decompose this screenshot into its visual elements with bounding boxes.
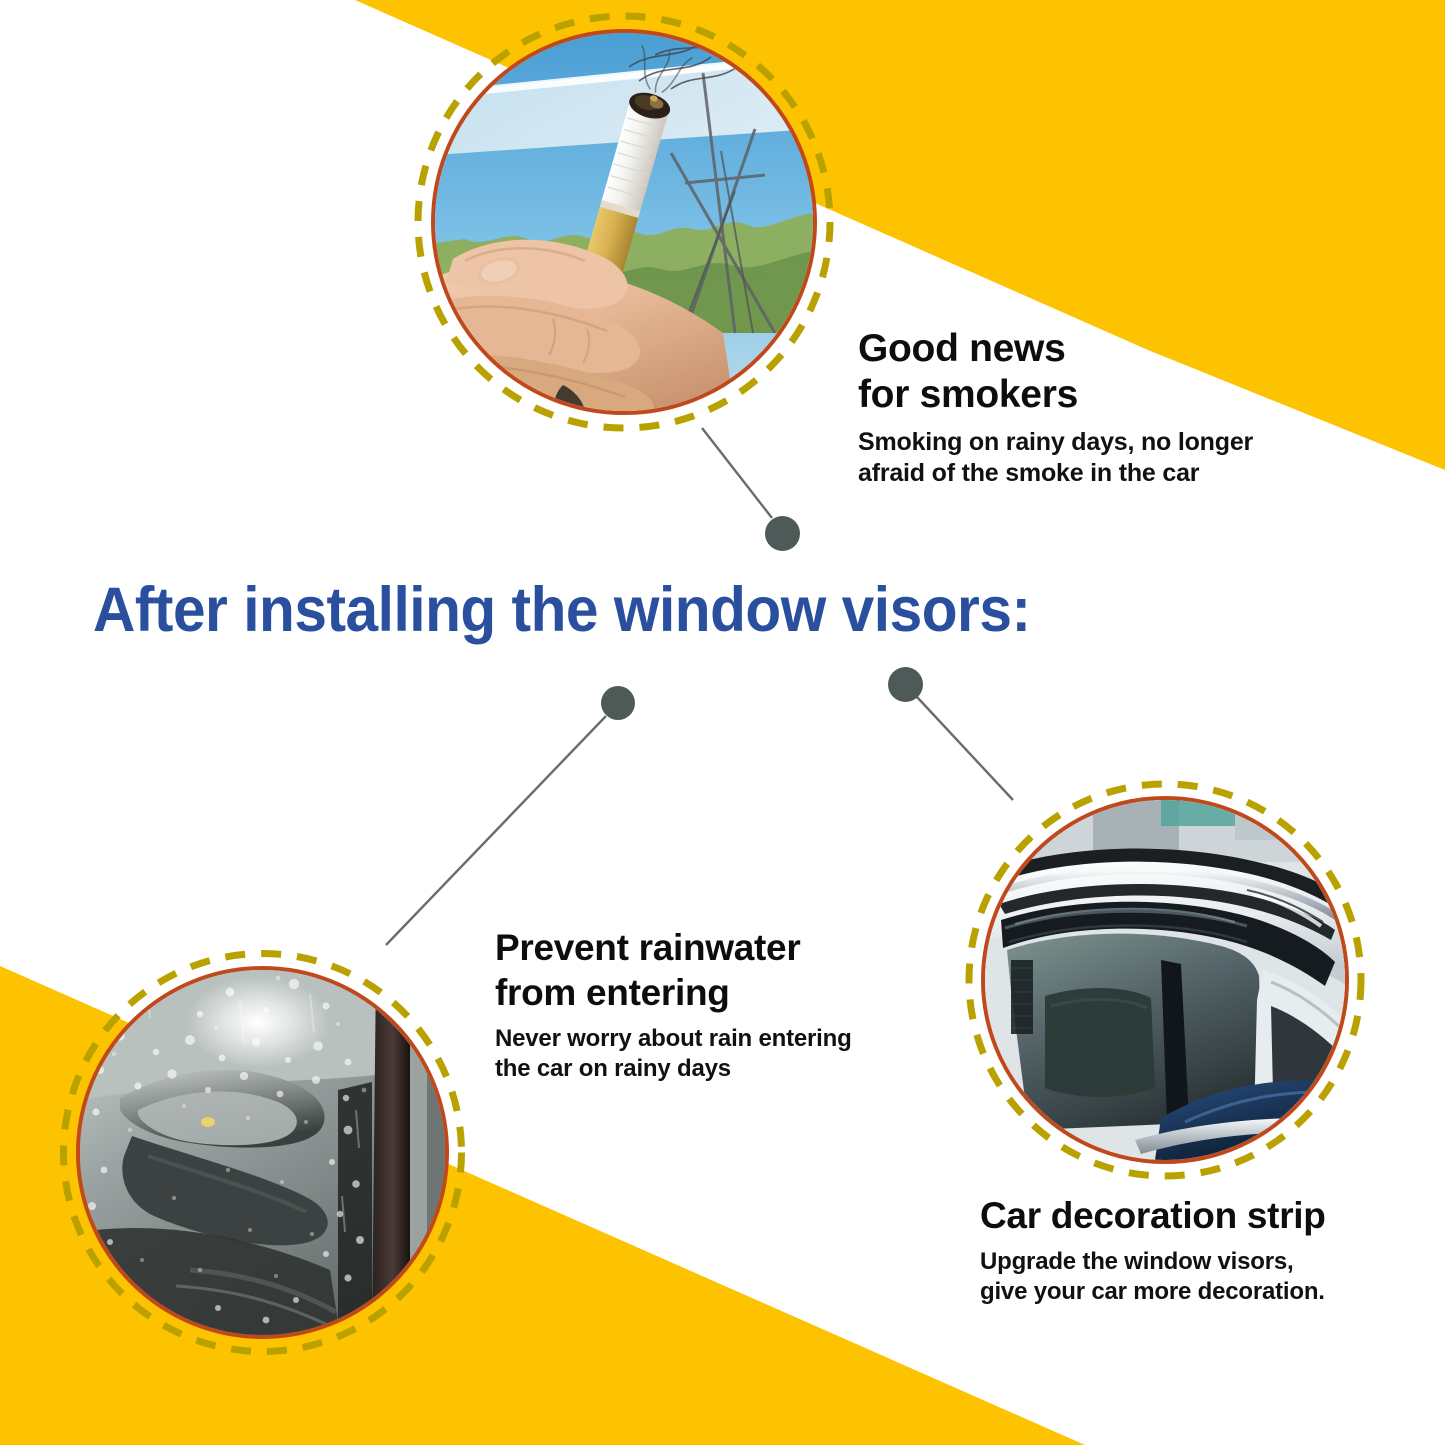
rain-covered-side-mirror-photo: [80, 970, 445, 1335]
feature-photo-smokers: [404, 2, 844, 442]
infographic-poster: After installing the window visors: Good…: [0, 0, 1445, 1445]
feature-subtitle-rainwater: Never worry about rain entering the car …: [495, 1024, 852, 1084]
connector-dot-smokers: [765, 516, 800, 551]
connector-dot-decoration: [888, 667, 923, 702]
feature-text-rainwater: Prevent rainwater from entering Never wo…: [495, 925, 852, 1084]
leader-line-rainwater: [386, 716, 606, 945]
feature-photo-rainwater: [50, 940, 475, 1365]
connector-dot-rainwater: [601, 686, 635, 720]
feature-title-smokers: Good news for smokers: [858, 326, 1253, 418]
feature-subtitle-smokers: Smoking on rainy days, no longer afraid …: [858, 427, 1253, 489]
feature-text-decoration: Car decoration strip Upgrade the window …: [980, 1193, 1326, 1307]
car-window-visor-installed-photo: [985, 800, 1345, 1160]
feature-text-smokers: Good news for smokers Smoking on rainy d…: [858, 326, 1253, 489]
feature-photo-decoration: [955, 770, 1375, 1190]
feature-title-rainwater: Prevent rainwater from entering: [495, 925, 852, 1015]
hand-holding-lit-cigarette-photo: [435, 33, 813, 411]
feature-title-decoration: Car decoration strip: [980, 1193, 1326, 1238]
feature-subtitle-decoration: Upgrade the window visors, give your car…: [980, 1247, 1326, 1307]
page-title: After installing the window visors:: [93, 574, 1031, 646]
